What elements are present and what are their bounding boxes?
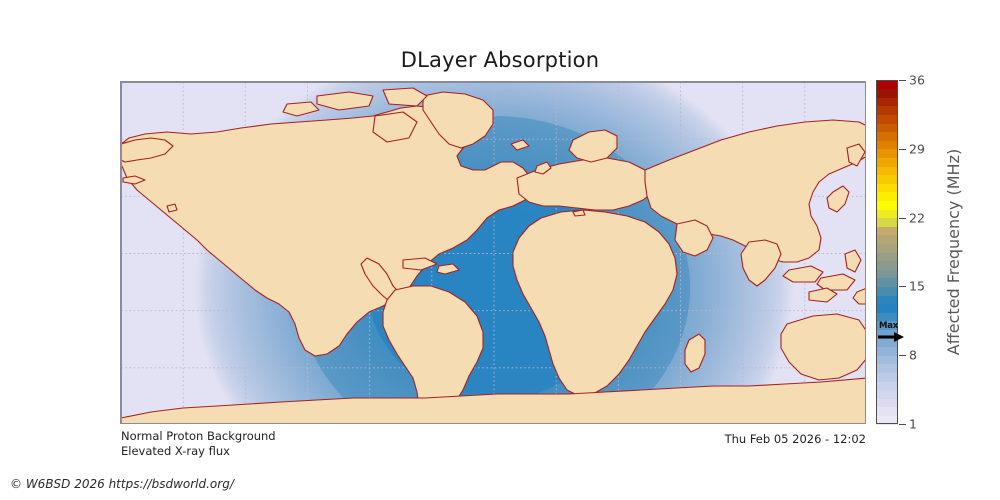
colorbar-segment [876, 192, 898, 201]
colorbar-segment [876, 209, 898, 218]
proton-background-status: Normal Proton Background [121, 429, 276, 444]
colorbar-tick-mark [899, 80, 906, 81]
colorbar-segment [876, 200, 898, 209]
colorbar-segment [876, 157, 898, 166]
copyright-credit: © W6BSD 2026 https://bsdworld.org/ [10, 477, 234, 491]
colorbar-segment [876, 364, 898, 373]
land-hawaii [167, 204, 177, 212]
map-layers [121, 82, 866, 424]
colorbar-segment [876, 175, 898, 184]
colorbar-segment [876, 372, 898, 381]
colorbar-segment [876, 97, 898, 106]
colorbar-segment [876, 235, 898, 244]
colorbar-segment [876, 286, 898, 295]
colorbar-segment [876, 243, 898, 252]
colorbar-tick-label: 1 [909, 417, 917, 432]
timestamp: Thu Feb 05 2026 - 12:02 [725, 432, 866, 446]
colorbar-segment [876, 140, 898, 149]
status-annotations: Normal Proton Background Elevated X-ray … [121, 429, 276, 459]
colorbar-tick-label: 15 [909, 279, 925, 294]
colorbar-tick-mark [899, 286, 906, 287]
colorbar-segment [876, 226, 898, 235]
colorbar-segment [876, 347, 898, 356]
colorbar-segment [876, 123, 898, 132]
xray-flux-status: Elevated X-ray flux [121, 444, 276, 459]
colorbar-segment [876, 269, 898, 278]
colorbar-segment [876, 149, 898, 158]
dlayer-absorption-figure: DLayer Absorption [0, 0, 1000, 500]
colorbar-segment [876, 106, 898, 115]
colorbar-segment [876, 398, 898, 407]
colorbar-segment [876, 304, 898, 313]
colorbar-gradient[interactable] [876, 80, 898, 424]
colorbar-tick-label: 29 [909, 141, 925, 156]
colorbar-segment [876, 390, 898, 399]
colorbar-tick-label: 22 [909, 210, 925, 225]
colorbar-segment [876, 89, 898, 98]
colorbar-segment [876, 321, 898, 330]
colorbar-segment [876, 312, 898, 321]
colorbar-tick-mark [899, 424, 906, 425]
colorbar-segment [876, 166, 898, 175]
map-canvas [121, 82, 866, 424]
colorbar-segment [876, 252, 898, 261]
colorbar-segment [876, 295, 898, 304]
colorbar-segment [876, 338, 898, 347]
colorbar-tick-mark [899, 149, 906, 150]
world-map-panel[interactable] [120, 81, 866, 424]
colorbar-axis-label: Affected Frequency (MHz) [944, 80, 966, 424]
colorbar-segment [876, 407, 898, 416]
colorbar-segment [876, 218, 898, 227]
colorbar-segment [876, 329, 898, 338]
colorbar-segment [876, 132, 898, 141]
colorbar-segment [876, 415, 898, 424]
colorbar-segment [876, 278, 898, 287]
colorbar-tick-label: 36 [909, 73, 925, 88]
colorbar-tick-mark [899, 218, 906, 219]
colorbar-segment [876, 114, 898, 123]
colorbar-segment [876, 183, 898, 192]
colorbar-segment [876, 355, 898, 364]
page-title: DLayer Absorption [0, 48, 1000, 72]
colorbar-segment [876, 381, 898, 390]
colorbar-segment [876, 80, 898, 89]
colorbar-segment [876, 261, 898, 270]
colorbar-tick-mark [899, 355, 906, 356]
colorbar-tick-label: 8 [909, 348, 917, 363]
